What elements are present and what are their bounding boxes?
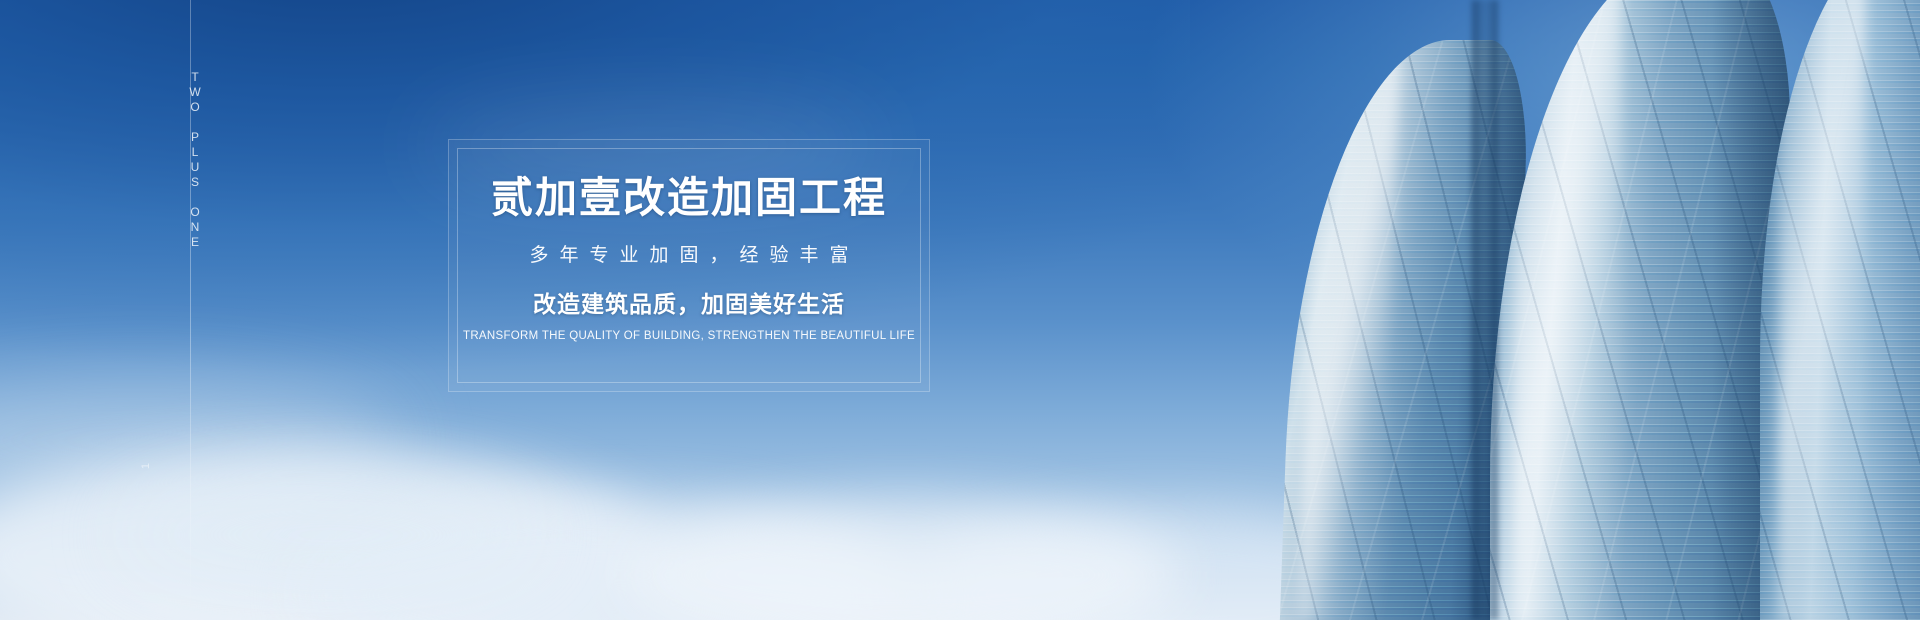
hero-title: 贰加壹改造加固工程 xyxy=(449,174,929,222)
hero-english-tagline: TRANSFORM THE QUALITY OF BUILDING, STREN… xyxy=(449,330,929,342)
tower-main-center xyxy=(1490,0,1790,620)
tower-glass-gleam xyxy=(1779,0,1865,620)
hero-banner: TWO PLUS ONE 1 贰加壹改造加固工程 多年专业加固，经验丰富 改造建… xyxy=(0,0,1920,620)
slide-index-number: 1 xyxy=(140,462,152,469)
hero-slogan: 改造建筑品质，加固美好生活 xyxy=(449,285,929,319)
tower-gap-shadow xyxy=(1472,0,1498,620)
hero-text-group: 贰加壹改造加固工程 多年专业加固，经验丰富 改造建筑品质，加固美好生活 TRAN… xyxy=(449,174,929,342)
hero-text-panel: 贰加壹改造加固工程 多年专业加固，经验丰富 改造建筑品质，加固美好生活 TRAN… xyxy=(448,139,930,392)
tower-rear-right xyxy=(1760,0,1920,620)
hero-subtitle: 多年专业加固，经验丰富 xyxy=(449,240,929,267)
tower-glass-gleam xyxy=(1514,0,1622,620)
cloud-mid-left xyxy=(120,480,540,590)
skyscraper-group xyxy=(1080,0,1920,620)
brand-vertical-label: TWO PLUS ONE xyxy=(174,70,208,250)
